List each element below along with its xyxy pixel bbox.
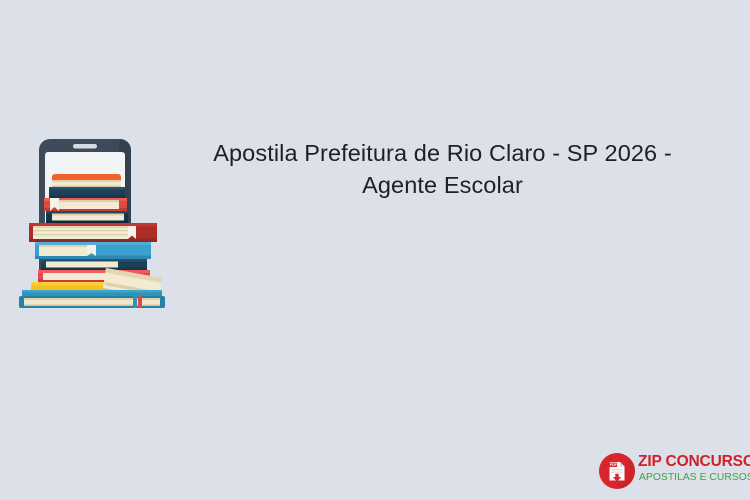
brand-logo: PDF ZIP CONCURSOS APOSTILAS E CURSOS	[598, 450, 744, 494]
book-darkred-large	[29, 223, 157, 242]
document-line-2	[611, 472, 622, 473]
books-illustration-svg	[10, 130, 175, 310]
book-top-orange	[52, 174, 121, 187]
product-title: Apostila Prefeitura de Rio Claro - SP 20…	[190, 137, 695, 201]
pdf-badge-text: PDF	[610, 463, 618, 467]
product-title-line-1: Apostila Prefeitura de Rio Claro - SP 20…	[190, 137, 695, 169]
book-bottom-teal	[19, 290, 165, 308]
brand-logo-text: ZIP CONCURSOS APOSTILAS E CURSOS	[638, 453, 744, 484]
product-thumbnail-card: Apostila Prefeitura de Rio Claro - SP 20…	[0, 0, 750, 500]
pdf-download-icon-svg: PDF	[598, 452, 636, 490]
books-illustration	[10, 130, 175, 310]
brand-name: ZIP CONCURSOS	[638, 453, 744, 471]
book-navy-upper	[49, 187, 125, 198]
brand-tagline: APOSTILAS E CURSOS	[638, 471, 744, 484]
document-line-1	[611, 469, 622, 470]
book-bright-blue	[35, 242, 151, 259]
pdf-download-icon: PDF	[598, 452, 636, 490]
product-title-line-2: Agente Escolar	[190, 169, 695, 201]
book-navy-lower	[41, 259, 147, 270]
download-base	[612, 482, 621, 484]
book-red-bookmark	[44, 198, 127, 211]
book-navy-mid	[46, 211, 128, 223]
